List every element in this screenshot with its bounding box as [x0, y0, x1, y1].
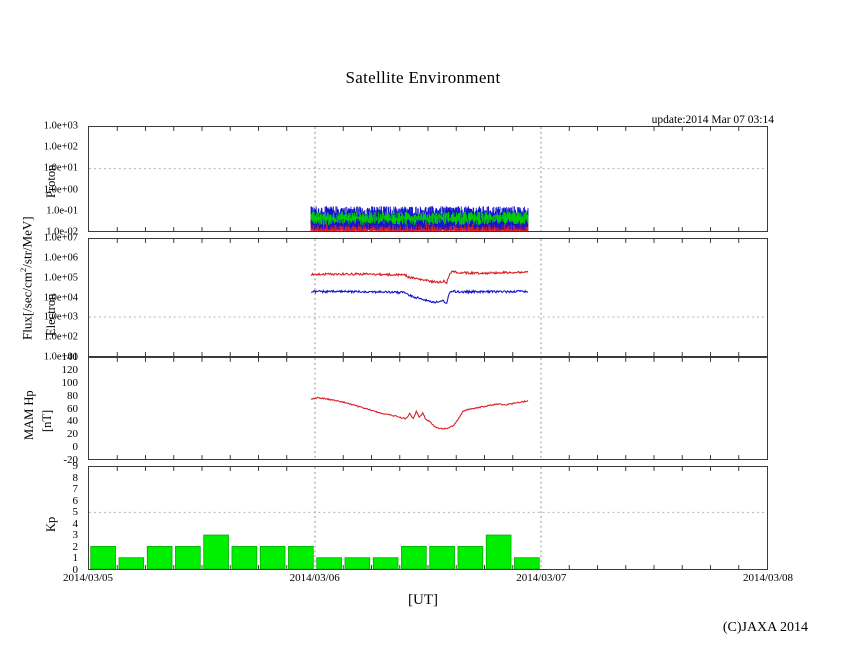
kp-bar: [147, 546, 172, 569]
flux-label-post: /str/MeV]: [19, 216, 34, 267]
x-axis-title: [UT]: [0, 592, 846, 609]
kp-bar: [514, 558, 539, 569]
proton-y-tick-label: 1.0e+00: [0, 184, 84, 195]
kp-bar: [175, 546, 200, 569]
kp-bar: [345, 558, 370, 569]
proton-y-tick-label: 1.0e-01: [0, 205, 84, 216]
kp-bar: [401, 546, 426, 569]
mam-y-tick-label: 100: [0, 377, 84, 389]
kp-bar: [260, 546, 285, 569]
proton-axis-label: Proton: [44, 165, 59, 198]
electron-y-tick-label: 1.0e+02: [0, 332, 84, 343]
kp-bar: [458, 546, 483, 569]
x-tick-label: 2014/03/08: [743, 572, 793, 584]
mam-y-tick-label: 120: [0, 364, 84, 376]
electron-y-tick-label: 1.0e+05: [0, 272, 84, 283]
proton-plot: [89, 127, 767, 231]
x-tick-label: 2014/03/07: [516, 572, 566, 584]
copyright-notice: (C)JAXA 2014: [723, 620, 808, 636]
kp-bar: [486, 535, 511, 569]
kp-axis-label: Kp: [44, 517, 59, 532]
flux-label-exponent: 2: [18, 268, 28, 272]
proton-y-tick-label: 1.0e+02: [0, 142, 84, 153]
kp-y-tick-label: 8: [0, 472, 84, 484]
x-tick-label: 2014/03/06: [290, 572, 340, 584]
kp-y-tick-label: 1: [0, 552, 84, 564]
panel-kp-index: [88, 466, 768, 570]
panel-electron-flux: [88, 238, 768, 357]
electron-red-trace: [311, 271, 528, 284]
kp-y-tick-label: 2: [0, 541, 84, 553]
mam-y-tick-label: 140: [0, 351, 84, 363]
mam-y-tick-label: 80: [0, 390, 84, 402]
mam-hp-red-trace: [311, 397, 528, 429]
x-tick-label: 2014/03/05: [63, 572, 113, 584]
kp-bar: [317, 558, 342, 569]
flux-axis-label: Flux[/sec/cm2/str/MeV]: [18, 216, 35, 340]
kp-bar: [288, 546, 313, 569]
kp-bar: [91, 546, 116, 569]
electron-blue-trace: [311, 290, 528, 303]
electron-y-tick-label: 1.0e+07: [0, 233, 84, 244]
kp-bar: [119, 558, 144, 569]
proton-y-tick-label: 1.0e+01: [0, 163, 84, 174]
kp-y-tick-label: 9: [0, 460, 84, 472]
proton-y-tick-label: 1.0e+03: [0, 121, 84, 132]
kp-bar: [232, 546, 257, 569]
mam-axis-unit: [nT]: [40, 410, 55, 432]
kp-y-tick-label: 4: [0, 518, 84, 530]
electron-y-tick-label: 1.0e+04: [0, 292, 84, 303]
panel-mam-hp: [88, 357, 768, 460]
mam-axis-label: MAM Hp: [22, 390, 37, 440]
kp-bar: [204, 535, 229, 569]
panel-proton-flux: [88, 126, 768, 232]
flux-label-pre: Flux[/sec/cm: [19, 272, 34, 340]
kp-y-tick-label: 7: [0, 483, 84, 495]
kp-bar: [373, 558, 398, 569]
kp-y-tick-label: 5: [0, 506, 84, 518]
update-timestamp: update:2014 Mar 07 03:14: [652, 114, 774, 126]
kp-bar: [430, 546, 455, 569]
kp-y-tick-label: 6: [0, 495, 84, 507]
mam-y-tick-label: 0: [0, 441, 84, 453]
kp-plot: [89, 467, 767, 569]
electron-plot: [89, 239, 767, 356]
electron-y-tick-label: 1.0e+06: [0, 252, 84, 263]
kp-y-tick-label: 3: [0, 529, 84, 541]
mam-hp-plot: [89, 358, 767, 459]
chart-page: Satellite Environment update:2014 Mar 07…: [0, 0, 846, 655]
electron-axis-label: Electron: [44, 294, 59, 336]
page-title: Satellite Environment: [0, 68, 846, 88]
electron-y-tick-label: 1.0e+03: [0, 312, 84, 323]
